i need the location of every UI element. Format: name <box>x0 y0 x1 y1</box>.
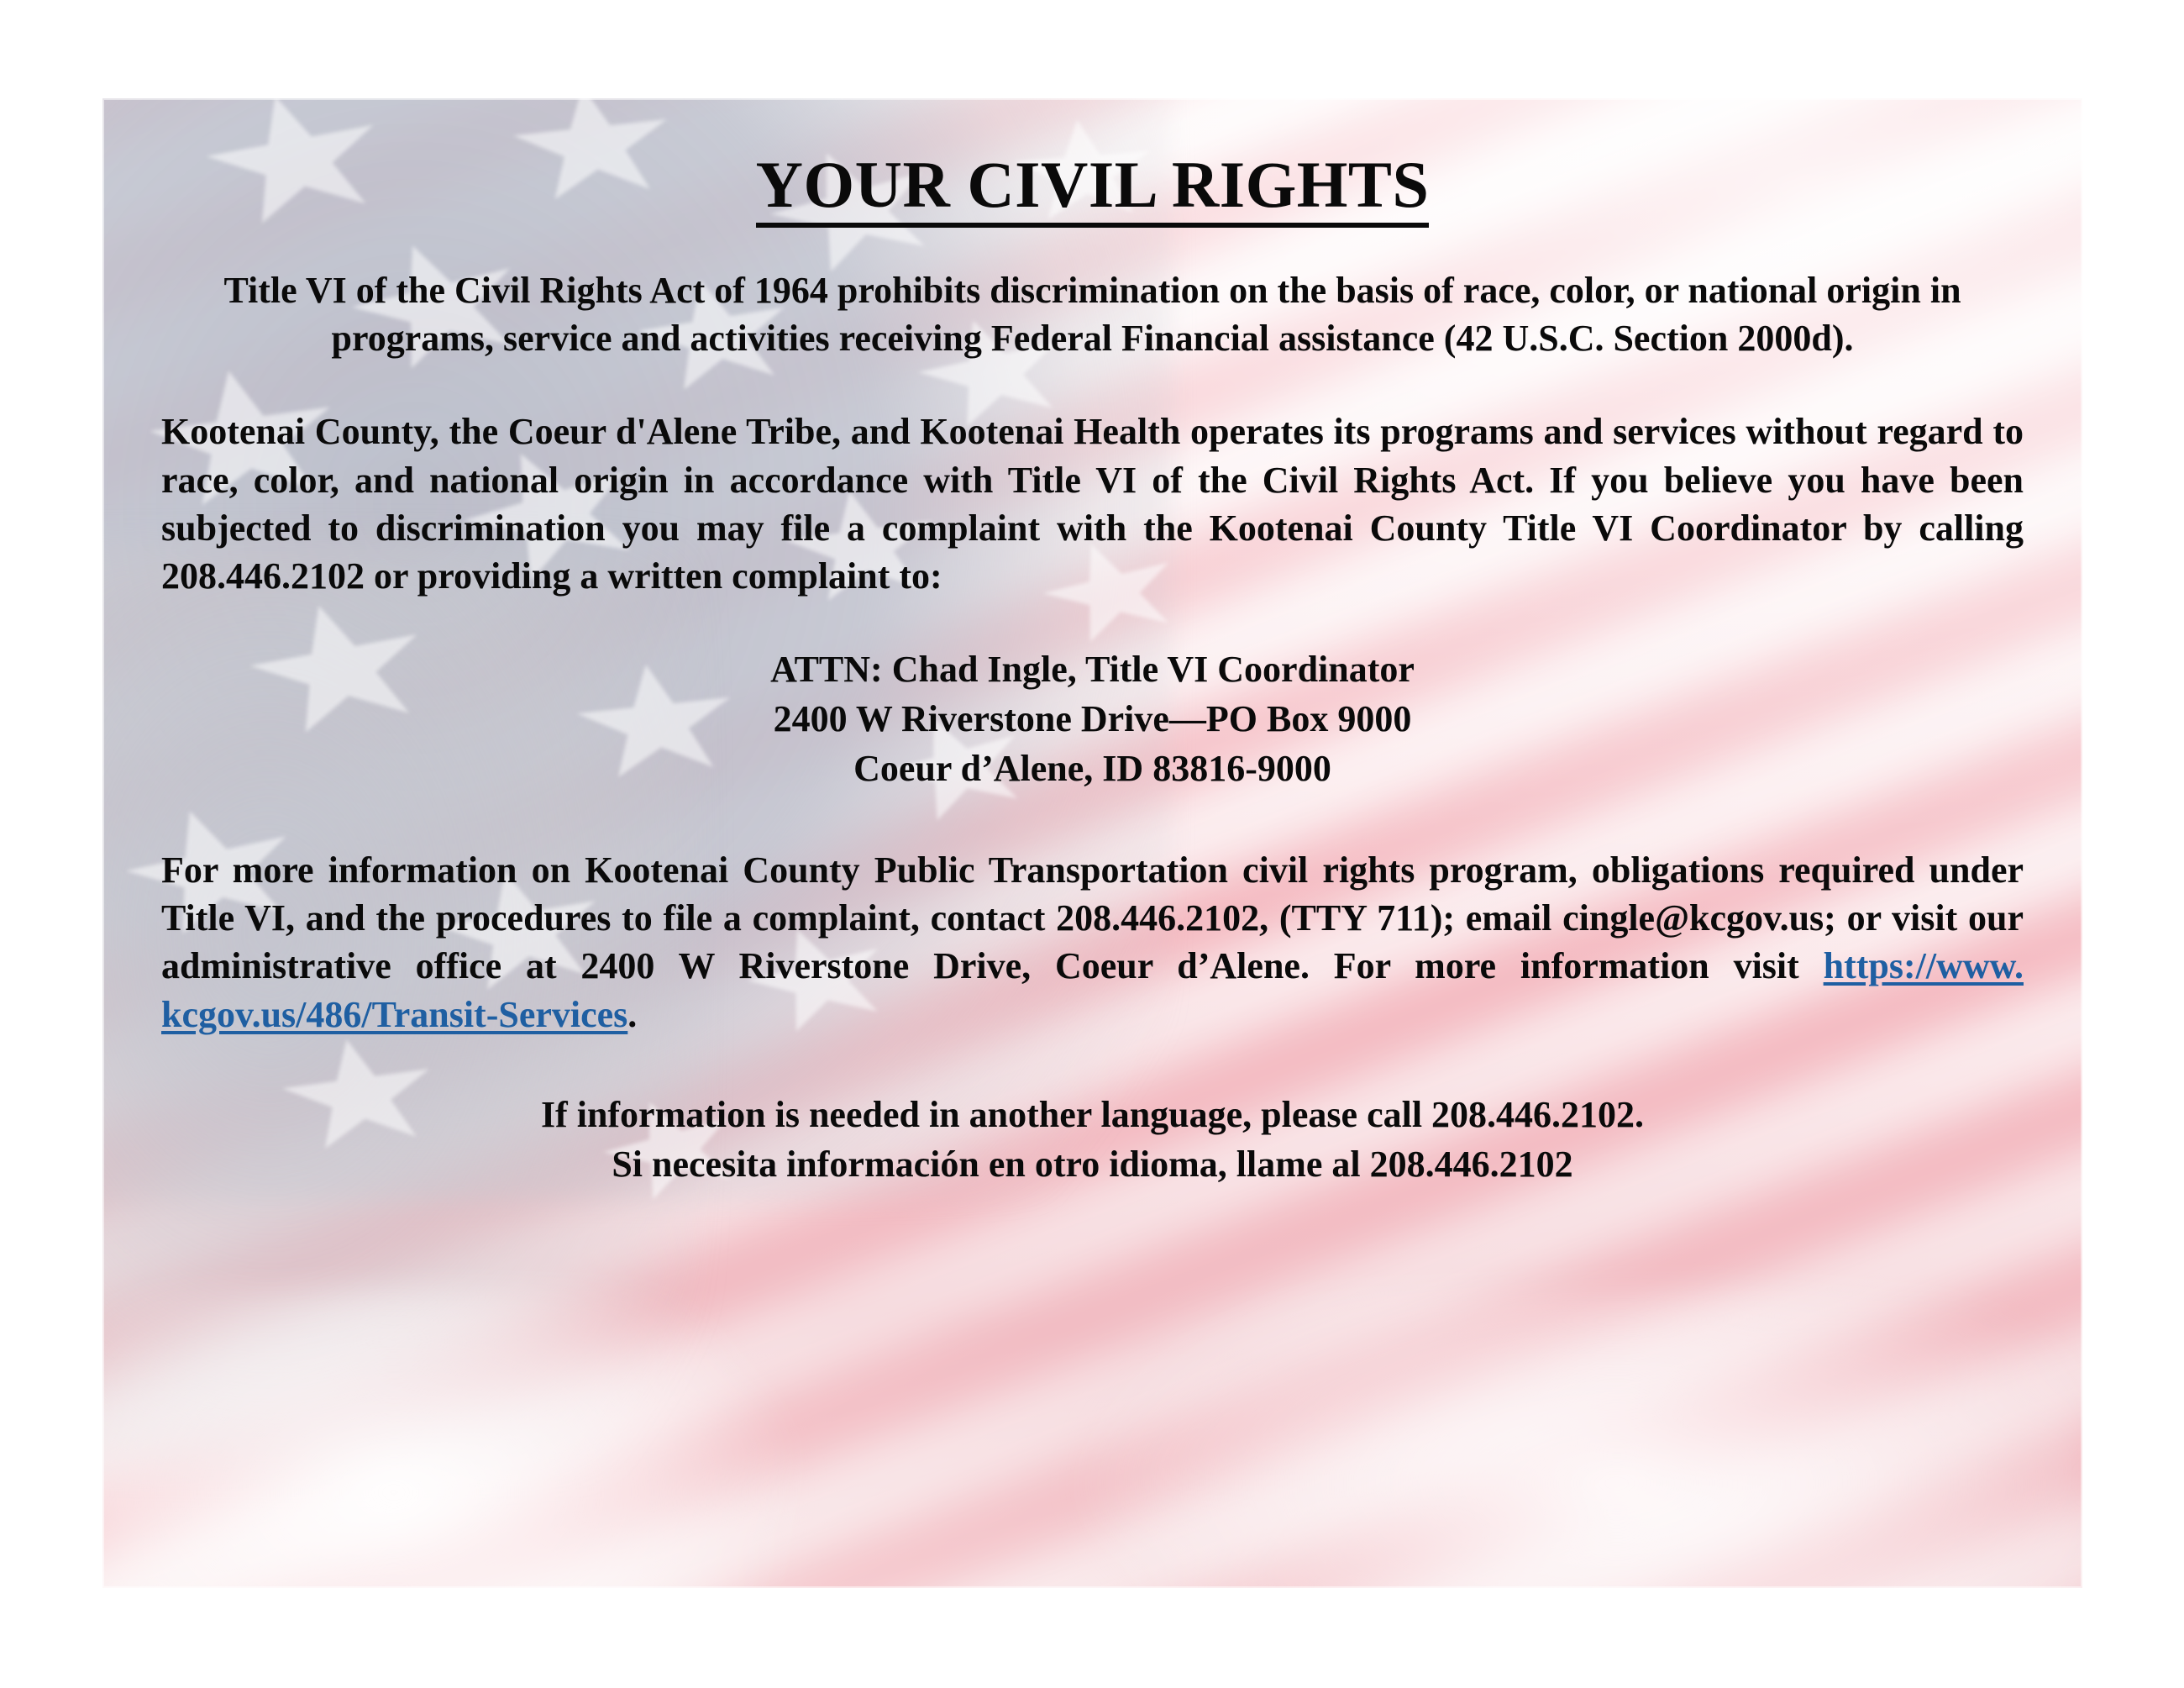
address-line-city-state-zip: Coeur d’Alene, ID 83816-9000 <box>156 744 2029 794</box>
address-line-street: 2400 W Riverstone Drive—PO Box 9000 <box>156 695 2029 744</box>
more-information-text-before-link: For more information on Kootenai County … <box>161 849 2024 986</box>
poster-content: YOUR CIVIL RIGHTS Title VI of the Civil … <box>102 98 2082 1588</box>
title-vi-intro-paragraph: Title VI of the Civil Rights Act of 1964… <box>156 266 2029 362</box>
more-information-text-after-link: . <box>627 994 637 1035</box>
page-title-text: YOUR CIVIL RIGHTS <box>756 152 1430 228</box>
nondiscrimination-body-paragraph: Kootenai County, the Coeur d'Alene Tribe… <box>156 408 2029 600</box>
language-assistance-spanish: Si necesita información en otro idioma, … <box>156 1140 2029 1190</box>
language-assistance-block: If information is needed in another lang… <box>156 1091 2029 1190</box>
mailing-address-block: ATTN: Chad Ingle, Title VI Coordinator 2… <box>156 645 2029 794</box>
civil-rights-poster: YOUR CIVIL RIGHTS Title VI of the Civil … <box>102 98 2082 1588</box>
address-line-attn: ATTN: Chad Ingle, Title VI Coordinator <box>156 645 2029 695</box>
more-information-paragraph: For more information on Kootenai County … <box>156 846 2029 1039</box>
language-assistance-english: If information is needed in another lang… <box>156 1091 2029 1140</box>
page-title: YOUR CIVIL RIGHTS <box>156 152 2029 228</box>
